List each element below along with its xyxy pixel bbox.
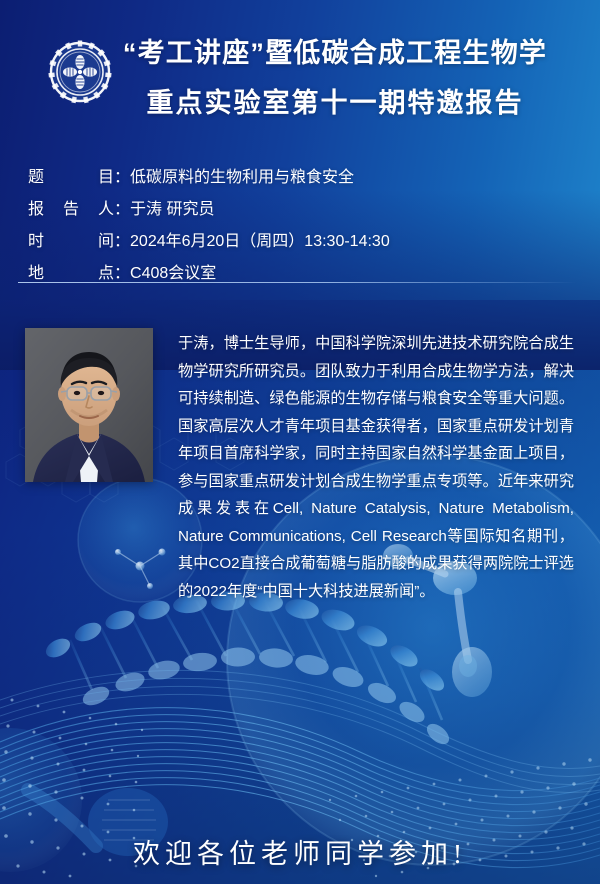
event-info-list: 题 目 ： 低碳原料的生物利用与粮食安全 报 告 人 ： 于涛 研究员 时 间 … — [28, 163, 568, 291]
info-colon: ： — [114, 163, 130, 187]
label-char: 目 — [98, 163, 114, 187]
info-label-time: 时 间 — [28, 227, 114, 251]
label-char: 时 — [28, 227, 44, 251]
portrait-svg — [25, 328, 153, 482]
seminar-poster: “考工讲座”暨低碳合成工程生物学 重点实验室第十一期特邀报告 题 目 ： 低碳原… — [0, 0, 600, 884]
info-row-location: 地 点 ： C408会议室 — [28, 259, 568, 291]
info-colon: ： — [114, 227, 130, 251]
label-char: 地 — [28, 259, 44, 283]
poster-title: “考工讲座”暨低碳合成工程生物学 重点实验室第十一期特邀报告 — [100, 28, 570, 128]
poster-header: “考工讲座”暨低碳合成工程生物学 重点实验室第十一期特邀报告 — [0, 28, 600, 138]
info-colon: ： — [114, 259, 130, 283]
label-char: 间 — [98, 227, 114, 251]
speaker-portrait-yu-tao — [25, 328, 153, 482]
label-char: 点 — [98, 259, 114, 283]
poster-footer: 欢迎各位老师同学参加! — [0, 832, 600, 871]
info-row-speaker: 报 告 人 ： 于涛 研究员 — [28, 195, 568, 227]
section-divider — [18, 282, 576, 283]
info-label-speaker: 报 告 人 — [28, 195, 114, 219]
info-value-time: 2024年6月20日（周四）13:30-14:30 — [130, 227, 568, 251]
label-char: 告 — [63, 195, 79, 219]
atom-cluster-icon — [115, 549, 166, 590]
label-char: 人 — [98, 195, 114, 219]
info-value-location: C408会议室 — [130, 259, 568, 283]
title-line-2: 重点实验室第十一期特邀报告 — [100, 78, 570, 128]
welcome-text: 欢迎各位老师同学参加! — [133, 832, 467, 871]
info-value-speaker: 于涛 研究员 — [130, 195, 568, 219]
info-colon: ： — [114, 195, 130, 219]
info-label-location: 地 点 — [28, 259, 114, 283]
dna-helix — [43, 591, 453, 748]
info-value-topic: 低碳原料的生物利用与粮食安全 — [130, 163, 568, 187]
info-row-time: 时 间 ： 2024年6月20日（周四）13:30-14:30 — [28, 227, 568, 259]
title-line-1: “考工讲座”暨低碳合成工程生物学 — [100, 28, 570, 78]
label-char: 报 — [28, 195, 44, 219]
speaker-bio: 于涛，博士生导师，中国科学院深圳先进技术研究院合成生物学研究所研究员。团队致力于… — [178, 330, 574, 605]
label-char: 题 — [28, 163, 44, 187]
info-label-topic: 题 目 — [28, 163, 114, 187]
info-row-topic: 题 目 ： 低碳原料的生物利用与粮食安全 — [28, 163, 568, 195]
